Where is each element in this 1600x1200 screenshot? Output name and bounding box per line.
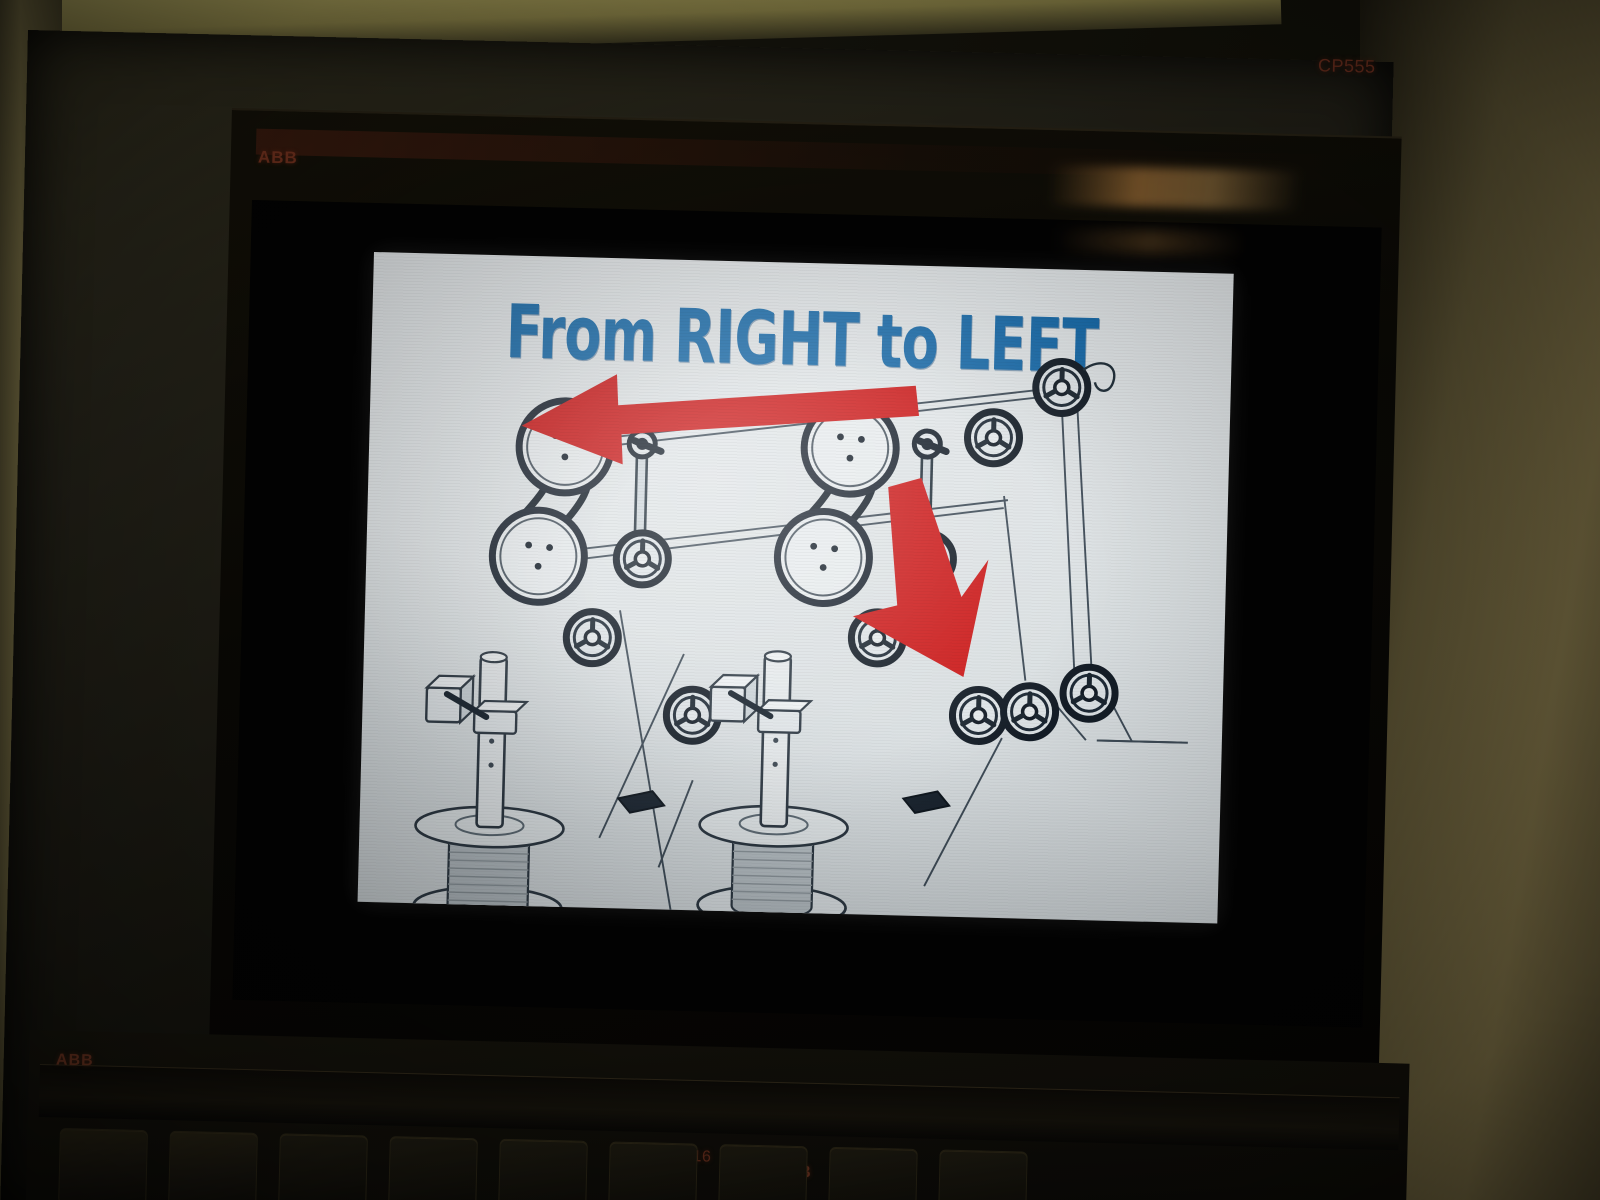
softkey-7[interactable]: [718, 1144, 808, 1200]
softkey-5[interactable]: [498, 1139, 588, 1200]
softkey-1[interactable]: [58, 1128, 148, 1200]
softkey-6[interactable]: [608, 1141, 698, 1200]
brand-logo-top: ABB: [258, 148, 298, 169]
screen-glare-streak-secondary: [1055, 228, 1246, 257]
softkey-2[interactable]: [168, 1131, 258, 1200]
softkey-3[interactable]: [278, 1133, 368, 1200]
brand-logo-panel: ABB: [56, 1052, 94, 1071]
softkey-9[interactable]: [938, 1150, 1028, 1200]
softkey-8[interactable]: [828, 1147, 918, 1200]
model-label-cp555: CP555: [1318, 55, 1376, 77]
threading-diagram: [358, 252, 1234, 924]
tensioner-arm-left: [616, 430, 672, 585]
softkey-4[interactable]: [388, 1136, 478, 1200]
screen-glare-streak: [1050, 165, 1301, 212]
screenshot-stage: ABB CP555 From RIGHT to LEFT: [0, 0, 1600, 1200]
projected-slide: From RIGHT to LEFT: [358, 252, 1234, 924]
machine-unit-left: [413, 397, 726, 923]
